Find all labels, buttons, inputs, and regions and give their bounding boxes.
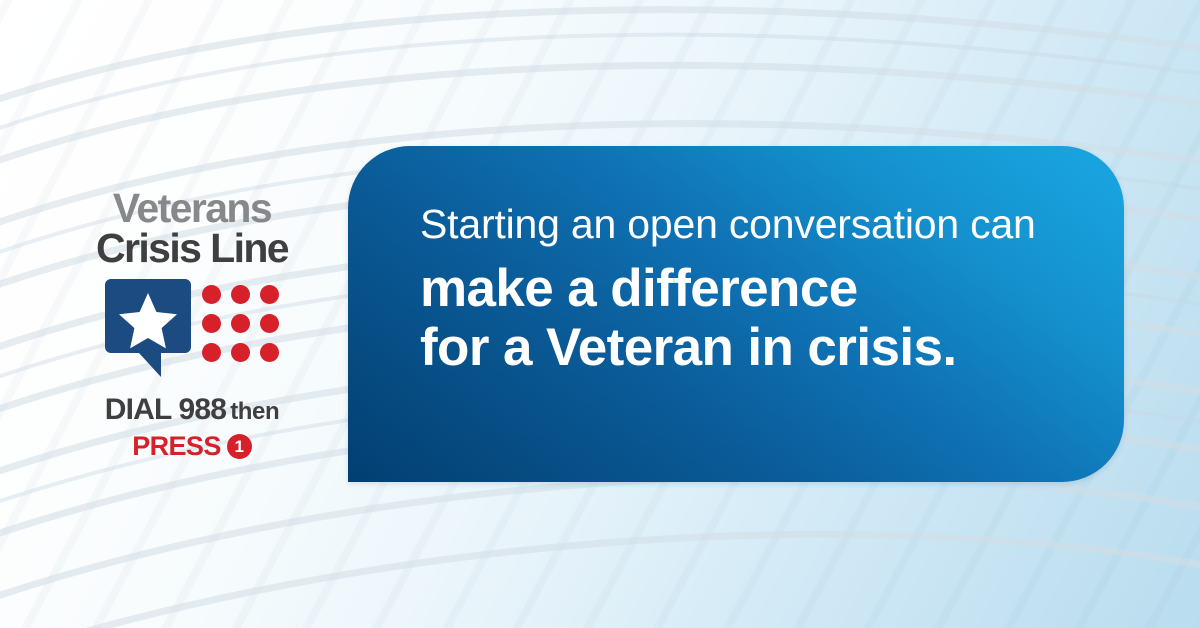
headline-line-bold-1: make a difference: [420, 259, 1080, 318]
keypad-dot: [202, 314, 221, 333]
keypad-dot: [231, 285, 250, 304]
press-word: PRESS: [132, 431, 221, 462]
keypad-dot: [202, 285, 221, 304]
speech-bubble-with-star-icon: [105, 279, 191, 379]
keypad-dot: [231, 314, 250, 333]
keypad-dot: [202, 343, 221, 362]
poster-canvas: Starting an open conversation can make a…: [0, 0, 1200, 628]
keypad-dot: [260, 343, 279, 362]
logo-mark: [92, 279, 292, 379]
headline-line-light: Starting an open conversation can: [420, 204, 1080, 245]
message-panel-text: Starting an open conversation can make a…: [420, 204, 1080, 378]
dial-then-word: then: [230, 398, 279, 425]
keypad-dot: [260, 314, 279, 333]
keypad-dot: [231, 343, 250, 362]
logo-wordmark: Veterans Crisis Line: [92, 190, 292, 267]
logo-word-crisis-line: Crisis Line: [92, 230, 292, 268]
dial-instruction: DIAL 988then: [92, 393, 292, 427]
press-one-badge: 1: [227, 434, 252, 459]
keypad-dots-icon: [202, 285, 279, 362]
keypad-dot: [260, 285, 279, 304]
message-panel: Starting an open conversation can make a…: [348, 146, 1124, 482]
veterans-crisis-line-logo: Veterans Crisis Line: [92, 190, 292, 462]
press-instruction: PRESS 1: [92, 431, 292, 462]
dial-number: DIAL 988: [105, 393, 226, 426]
logo-word-veterans: Veterans: [92, 190, 292, 228]
headline-line-bold-2: for a Veteran in crisis.: [420, 318, 1080, 377]
